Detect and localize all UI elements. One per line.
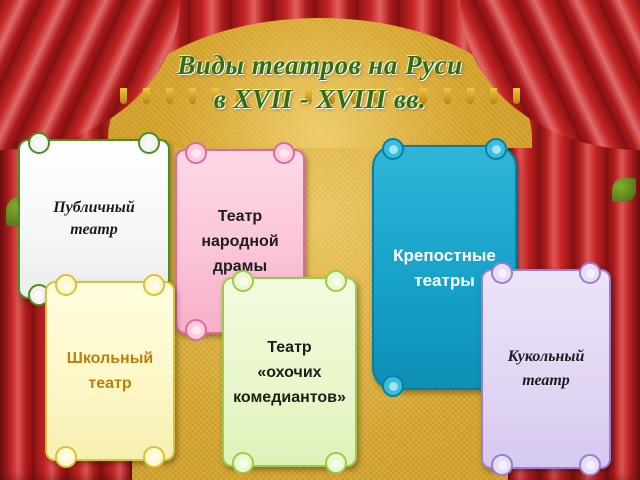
title-line-1: Виды театров на Руси <box>0 48 640 82</box>
slide-title: Виды театров на Руси в XVII - XVIII вв. <box>0 48 640 116</box>
node-puppet-theatre[interactable]: Кукольный театр <box>481 269 611 469</box>
slide-canvas: Виды театров на Руси в XVII - XVIII вв. … <box>0 0 640 480</box>
title-line-2: в XVII - XVIII вв. <box>0 82 640 116</box>
node-puppet-theatre-label: Кукольный театр <box>483 345 609 393</box>
node-comedian-theatre[interactable]: Театр «охочих комедиантов» <box>222 277 357 467</box>
node-comedian-theatre-label: Театр «охочих комедиантов» <box>223 335 356 410</box>
node-school-theatre[interactable]: Школьный театр <box>45 281 175 461</box>
node-school-theatre-label: Школьный театр <box>47 346 173 396</box>
node-public-theatre-label: Публичный театр <box>20 197 168 241</box>
leaf-decoration-icon <box>612 178 636 202</box>
node-folk-drama-theatre-label: Театр народной драмы <box>177 204 303 279</box>
